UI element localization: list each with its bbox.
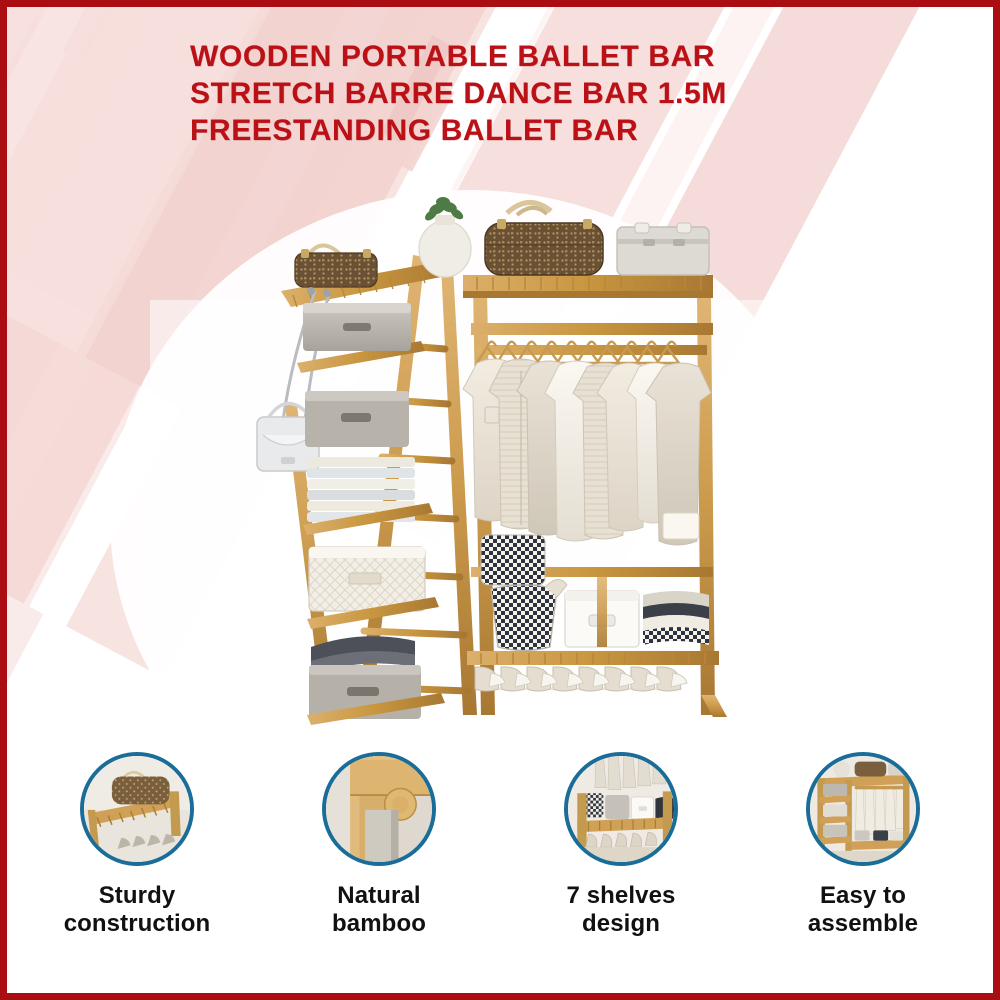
feature-label-line-2: design: [567, 910, 676, 938]
bamboo-garment-rack-illustration: [245, 195, 745, 735]
feature-label-line-2: construction: [64, 910, 211, 938]
feature-natural-bamboo: Natural bamboo: [258, 752, 500, 984]
close-up-bamboo-shelf-with-handbag-icon: [84, 756, 190, 862]
title-line-1: WOODEN PORTABLE BALLET BAR: [190, 38, 890, 75]
feature-label-line-1: Sturdy: [64, 882, 211, 910]
hero-product-image: [245, 195, 745, 735]
feature-thumb-natural-bamboo: [322, 752, 436, 866]
feature-label-line-1: 7 shelves: [567, 882, 676, 910]
feature-label-line-1: Natural: [332, 882, 426, 910]
title-line-2: STRETCH BARRE DANCE BAR 1.5M: [190, 75, 890, 112]
product-listing-image: WOODEN PORTABLE BALLET BAR STRETCH BARRE…: [0, 0, 1000, 1000]
bamboo-frame-joint-icon: [326, 756, 432, 862]
feature-callout-row: Sturdy construction: [16, 752, 984, 984]
feature-label-seven-shelves-design: 7 shelves design: [567, 882, 676, 938]
feature-thumb-easy-to-assemble: [806, 752, 920, 866]
feature-label-sturdy-construction: Sturdy construction: [64, 882, 211, 938]
feature-label-line-2: assemble: [808, 910, 918, 938]
full-rack-assembled-icon: [810, 756, 916, 862]
feature-thumb-seven-shelves-design: [564, 752, 678, 866]
lower-shelf-storage-icon: [568, 756, 674, 862]
feature-label-natural-bamboo: Natural bamboo: [332, 882, 426, 938]
feature-label-easy-to-assemble: Easy to assemble: [808, 882, 918, 938]
feature-label-line-1: Easy to: [808, 882, 918, 910]
feature-sturdy-construction: Sturdy construction: [16, 752, 258, 984]
title-line-3: FREESTANDING BALLET BAR: [190, 112, 890, 149]
product-title: WOODEN PORTABLE BALLET BAR STRETCH BARRE…: [190, 38, 890, 149]
feature-thumb-sturdy-construction: [80, 752, 194, 866]
feature-seven-shelves-design: 7 shelves design: [500, 752, 742, 984]
feature-easy-to-assemble: Easy to assemble: [742, 752, 984, 984]
feature-label-line-2: bamboo: [332, 910, 426, 938]
